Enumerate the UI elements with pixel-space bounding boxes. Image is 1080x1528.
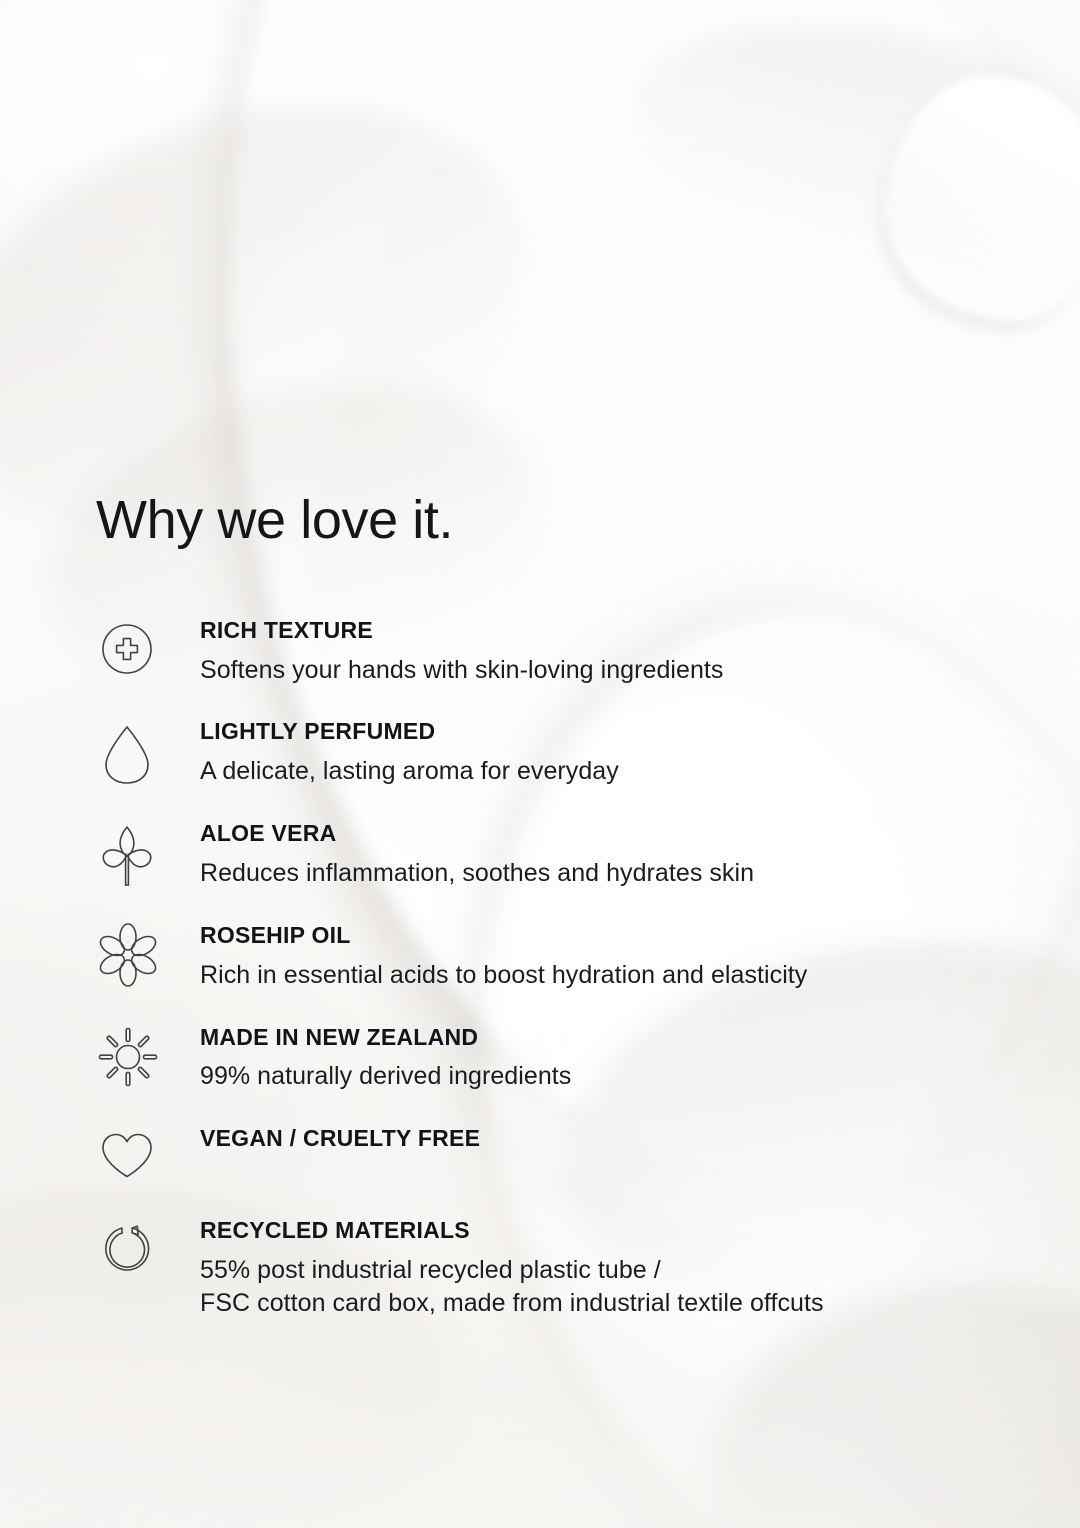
feature-title: MADE IN NEW ZEALAND <box>200 1023 1016 1052</box>
feature-description: Rich in essential acids to boost hydrati… <box>200 959 1016 993</box>
feature-text: LIGHTLY PERFUMED A delicate, lasting aro… <box>200 717 1016 788</box>
heart-icon <box>96 1124 200 1184</box>
feature-item-vegan-cruelty-free: VEGAN / CRUELTY FREE <box>96 1124 1016 1184</box>
feature-title: VEGAN / CRUELTY FREE <box>200 1124 1016 1153</box>
feature-description: 55% post industrial recycled plastic tub… <box>200 1254 1016 1321</box>
leaf-plant-icon <box>96 819 200 891</box>
feature-text: ROSEHIP OIL Rich in essential acids to b… <box>200 921 1016 992</box>
flower-icon <box>96 921 200 987</box>
feature-description: 99% naturally derived ingredients <box>200 1060 1016 1094</box>
feature-description: A delicate, lasting aroma for everyday <box>200 755 1016 789</box>
recycle-arrow-icon <box>96 1216 200 1280</box>
feature-description: Reduces inflammation, soothes and hydrat… <box>200 857 1016 891</box>
feature-text: ALOE VERA Reduces inflammation, soothes … <box>200 819 1016 890</box>
circle-plus-icon <box>96 616 200 680</box>
feature-item-recycled-materials: RECYCLED MATERIALS 55% post industrial r… <box>96 1216 1016 1321</box>
water-droplet-icon <box>96 717 200 789</box>
feature-item-aloe-vera: ALOE VERA Reduces inflammation, soothes … <box>96 819 1016 891</box>
feature-text: MADE IN NEW ZEALAND 99% naturally derive… <box>200 1023 1016 1094</box>
content-area: Why we love it. RICH TEXTURE Softens you… <box>0 0 1080 1528</box>
feature-list: RICH TEXTURE Softens your hands with ski… <box>96 616 1016 1321</box>
feature-text: VEGAN / CRUELTY FREE <box>200 1124 1016 1153</box>
feature-item-rosehip-oil: ROSEHIP OIL Rich in essential acids to b… <box>96 921 1016 992</box>
feature-title: RICH TEXTURE <box>200 616 1016 645</box>
sun-icon <box>96 1023 200 1089</box>
feature-item-lightly-perfumed: LIGHTLY PERFUMED A delicate, lasting aro… <box>96 717 1016 789</box>
feature-title: RECYCLED MATERIALS <box>200 1216 1016 1245</box>
page-title: Why we love it. <box>96 492 453 549</box>
feature-description: Softens your hands with skin-loving ingr… <box>200 654 1016 688</box>
feature-title: ALOE VERA <box>200 819 1016 848</box>
feature-text: RICH TEXTURE Softens your hands with ski… <box>200 616 1016 687</box>
feature-title: LIGHTLY PERFUMED <box>200 717 1016 746</box>
feature-title: ROSEHIP OIL <box>200 921 1016 950</box>
feature-text: RECYCLED MATERIALS 55% post industrial r… <box>200 1216 1016 1321</box>
feature-item-rich-texture: RICH TEXTURE Softens your hands with ski… <box>96 616 1016 687</box>
feature-item-made-in-new-zealand: MADE IN NEW ZEALAND 99% naturally derive… <box>96 1023 1016 1094</box>
